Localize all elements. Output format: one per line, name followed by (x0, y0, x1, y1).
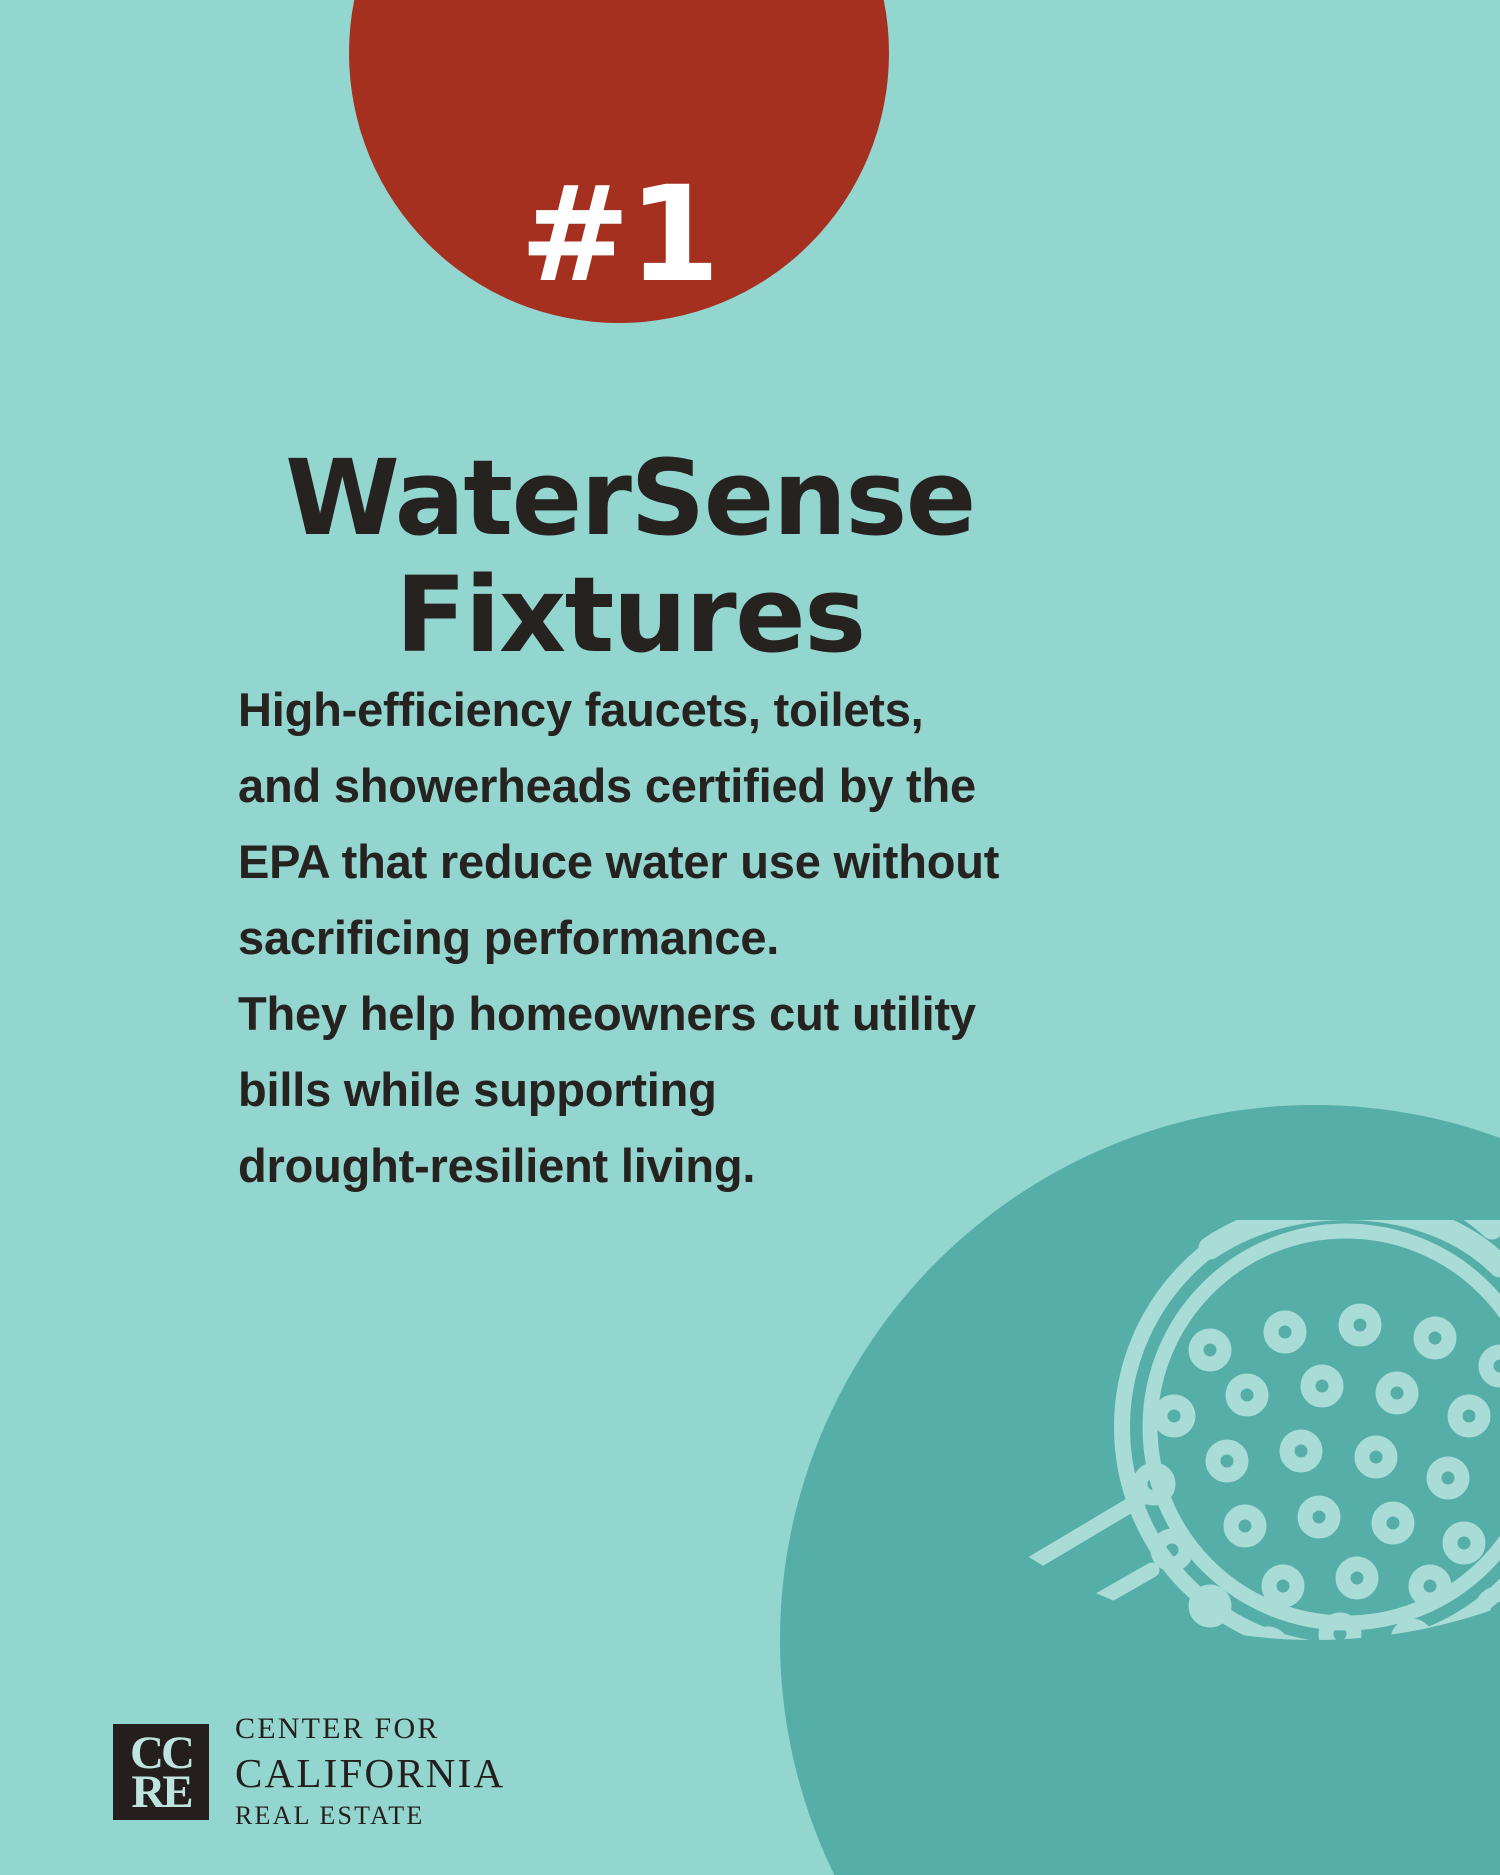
poster-canvas: #1 WaterSense Fixtures High-efficiency f… (0, 0, 1500, 1875)
rank-badge: #1 (349, 0, 889, 323)
rank-badge-number: #1 (349, 0, 889, 323)
body-line: EPA that reduce water use without (238, 824, 1048, 900)
body-line: sacrificing performance. (238, 900, 1048, 976)
showerhead-nozzle-holes (1140, 1311, 1500, 1662)
ccre-logo: CC RE CENTER FOR CALIFORNIA REAL ESTATE (113, 1714, 505, 1829)
body-copy: High-efficiency faucets, toilets, and sh… (238, 672, 1048, 1204)
ccre-logo-mark-icon: CC RE (113, 1724, 209, 1820)
logo-mark-row-2: RE (113, 1769, 209, 1816)
showerhead-inner-ring (1150, 1231, 1500, 1623)
body-line: They help homeowners cut utility (238, 976, 1048, 1052)
body-line: drought-resilient living. (238, 1128, 1048, 1204)
showerhead-illustration (740, 1220, 1500, 1875)
logo-word-1: CENTER FOR (235, 1714, 505, 1744)
logo-word-2: CALIFORNIA (235, 1753, 505, 1794)
page-title: WaterSense Fixtures (0, 440, 1260, 675)
body-line: High-efficiency faucets, toilets, (238, 672, 1048, 748)
body-line: bills while supporting (238, 1052, 1048, 1128)
title-line-2: Fixtures (395, 554, 864, 676)
title-line-1: WaterSense (285, 437, 975, 559)
body-line: and showerheads certified by the (238, 748, 1048, 824)
logo-word-3: REAL ESTATE (235, 1803, 505, 1829)
ccre-logo-wordmark: CENTER FOR CALIFORNIA REAL ESTATE (235, 1714, 505, 1829)
